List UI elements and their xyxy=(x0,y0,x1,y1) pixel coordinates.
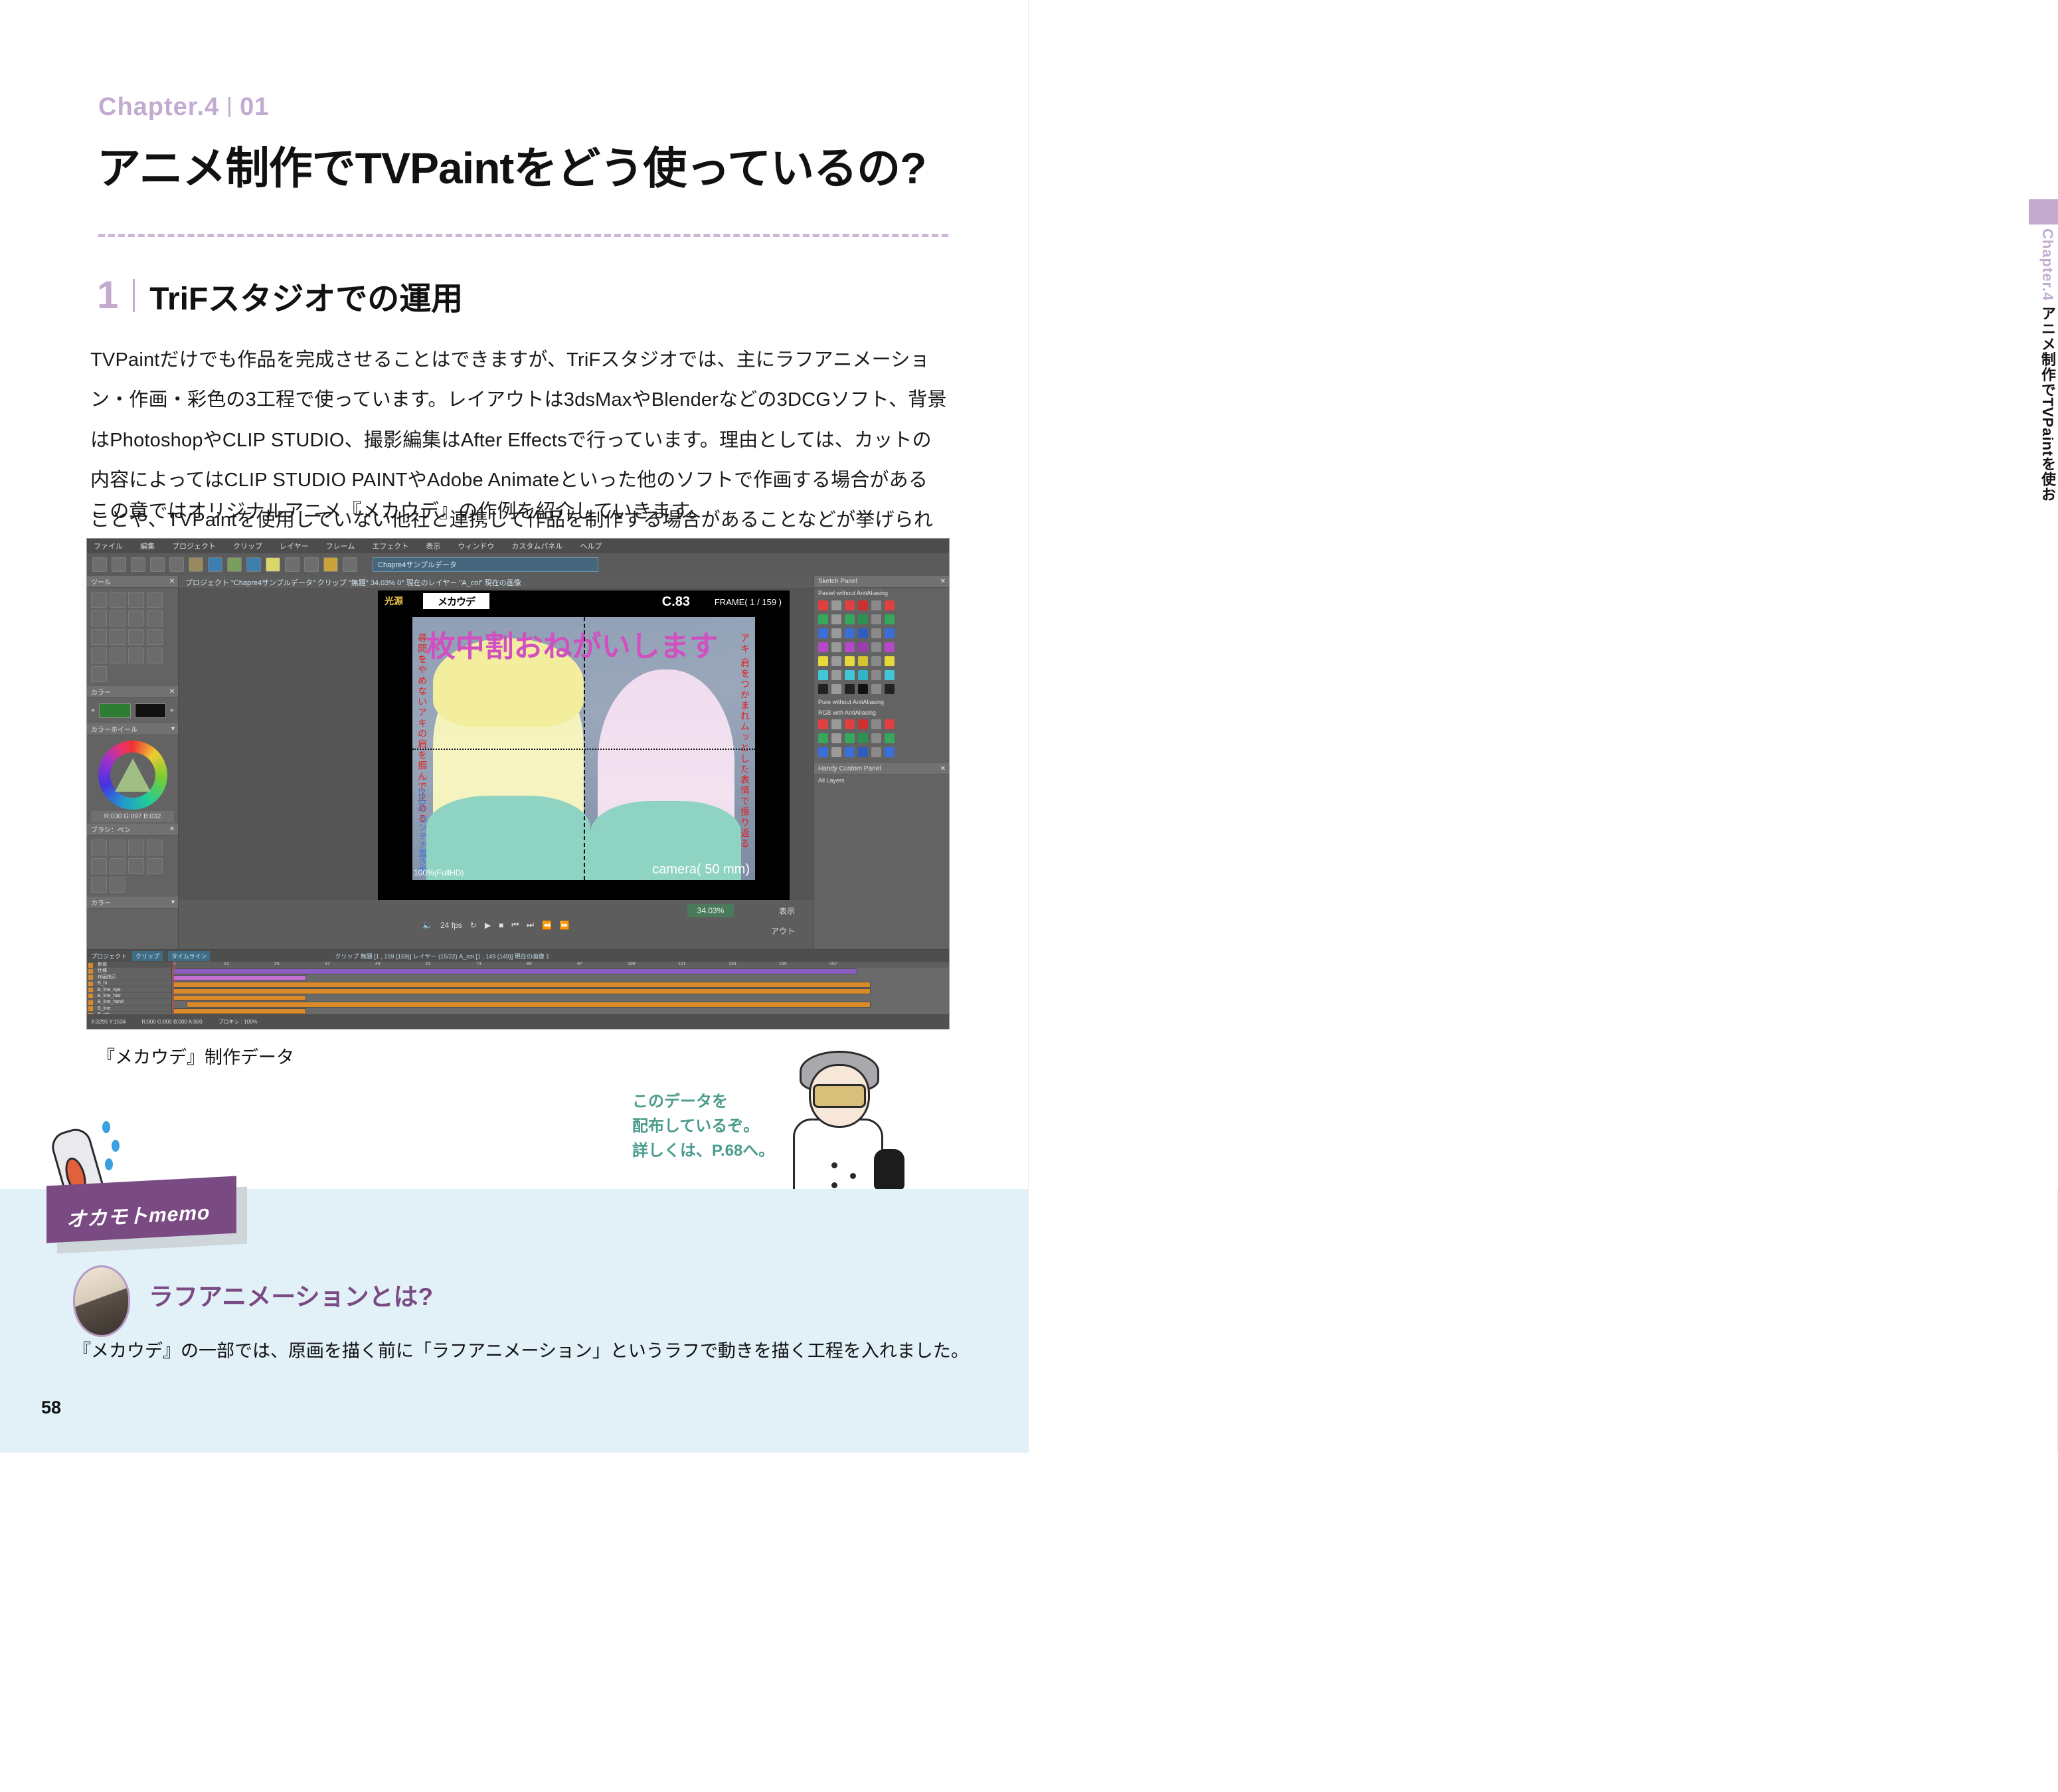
brush-swatch-magenta-icon[interactable] xyxy=(818,642,828,652)
section-1-number: 1 xyxy=(97,276,118,315)
eraser-tool-icon[interactable] xyxy=(91,648,107,664)
search-icon[interactable] xyxy=(304,557,319,572)
undo-icon[interactable] xyxy=(150,557,165,572)
menu-layer[interactable]: レイヤー xyxy=(280,541,309,551)
handy-panel-sub: All Layers xyxy=(814,775,949,786)
right-page: 2 『メカウデ』のワークフロー 『メカウデ』では、少人数体制に合う作画の手法を模… xyxy=(1029,0,2058,1453)
prev-frame-icon[interactable]: ⏪ xyxy=(542,921,552,930)
rgb-swatch-grey6-icon[interactable] xyxy=(871,747,881,757)
screenshot-caption: 『メカウデ』制作データ xyxy=(97,1043,294,1069)
text-tool-icon[interactable] xyxy=(91,877,107,893)
tab-timeline[interactable]: タイムライン xyxy=(168,951,210,961)
brush-swatch-grey13-icon[interactable] xyxy=(831,684,841,694)
brush-swatch-magenta4-icon[interactable] xyxy=(885,642,895,652)
kicker-divider xyxy=(228,97,230,117)
layer-row[interactable]: B_line xyxy=(87,1006,171,1012)
brush-swatch-green3-icon[interactable] xyxy=(858,614,868,624)
rgb-swatch-red3-icon[interactable] xyxy=(858,719,868,729)
layer-row[interactable]: 仕様 xyxy=(87,968,171,974)
rgb-swatch-grey2-icon[interactable] xyxy=(871,719,881,729)
color-triangle[interactable] xyxy=(115,759,151,792)
light-source-label: 光源 xyxy=(385,594,403,608)
canvas-stage[interactable]: 光源 メカウデ C.83 FRAME( 1 / 159 ) 枚中割おねがいします… xyxy=(378,590,790,900)
brush-swatch-green4-icon[interactable] xyxy=(885,614,895,624)
project-name-field[interactable]: Chapre4サンプルデータ xyxy=(373,557,598,572)
sketch-row[interactable] xyxy=(814,731,949,745)
color-panel-title: カラー xyxy=(91,687,111,697)
transport-controls[interactable]: 🔈 24 fps ↻ ▶ ■ ⏮ ⏭ ⏪ ⏩ xyxy=(422,920,570,930)
sweat-drop-icon xyxy=(112,1140,120,1152)
brush-panel-close-icon[interactable]: ✕ xyxy=(169,826,175,833)
ruler-tick: 25 xyxy=(274,962,280,966)
sketch-panel-close-icon[interactable]: ✕ xyxy=(940,578,946,585)
tvpaint-timeline[interactable]: プロジェクト クリップ タイムライン クリップ 無題 [1 , 159 (159… xyxy=(87,949,949,1029)
rgb-swatch-red2-icon[interactable] xyxy=(845,719,855,729)
first-frame-icon[interactable]: ⏮ xyxy=(511,920,519,930)
sketch-row[interactable] xyxy=(814,612,949,626)
ruler-tick: 37 xyxy=(325,962,330,966)
menu-edit[interactable]: 編集 xyxy=(140,541,155,551)
brush-panel-title: ブラシ：ペン xyxy=(91,824,131,834)
redo-icon[interactable] xyxy=(169,557,184,572)
timeline-ruler[interactable]: 1 13 25 37 49 61 73 85 97 109 121 133 14… xyxy=(172,962,949,968)
background-color-swatch[interactable] xyxy=(135,703,166,718)
timeline-playhead[interactable] xyxy=(173,962,174,1014)
tvpaint-menubar[interactable]: ファイル 編集 プロジェクト クリップ レイヤー フレーム エフェクト 表示 ウ… xyxy=(87,539,949,553)
ruler-tick: 109 xyxy=(628,962,636,966)
brush-swatch-cyan4-icon[interactable] xyxy=(885,670,895,680)
brush-swatch-blue2-icon[interactable] xyxy=(845,628,855,638)
layer-row[interactable]: B_line_eye xyxy=(87,987,171,993)
ruler-tick: 73 xyxy=(476,962,481,966)
layer-row[interactable]: B_line_hair xyxy=(87,993,171,999)
chapter-number: 01 xyxy=(240,93,269,121)
menu-view[interactable]: 表示 xyxy=(426,541,440,551)
layer-name-column[interactable]: 新規 仕様 作画指示 B_hi B_line_eye B_line_hair B… xyxy=(87,962,172,1014)
tools-panel-header: ツール ✕ xyxy=(87,576,178,588)
layer-header-new[interactable]: 新規 xyxy=(87,962,171,968)
sketch-row[interactable] xyxy=(814,626,949,640)
brush-icon[interactable] xyxy=(227,557,242,572)
marker-brush-icon[interactable] xyxy=(110,840,126,855)
brush-color-row: カラー ▾ xyxy=(87,897,178,909)
color-panel-header: カラー ✕ xyxy=(87,686,178,698)
line-tool-icon[interactable] xyxy=(110,592,126,608)
side-tab-label: アニメ制作でTVPaintを使お xyxy=(2039,306,2056,502)
handy-panel-title: Handy Custom Panel xyxy=(818,765,881,772)
scissors-icon[interactable] xyxy=(110,858,126,874)
brush-swatch-grey4-icon[interactable] xyxy=(871,614,881,624)
tvpaint-toolbar[interactable]: Chapre4サンプルデータ xyxy=(87,553,949,576)
frame-counter: FRAME( 1 / 159 ) xyxy=(715,597,782,607)
timeline-body[interactable]: 新規 仕様 作画指示 B_hi B_line_eye B_line_hair B… xyxy=(87,962,949,1014)
brush-swatch-black-icon[interactable] xyxy=(818,684,828,694)
canvas-info-bar: プロジェクト "Chapre4サンプルデータ" クリップ "無題" 34.03%… xyxy=(179,576,814,589)
rgb-swatch-grey3-icon[interactable] xyxy=(831,733,841,743)
memo-question: ラフアニメーションとは? xyxy=(149,1277,433,1312)
rgb-swatch-blue4-icon[interactable] xyxy=(885,747,895,757)
rgb-readout: R:030 G:097 B:032 xyxy=(91,811,174,822)
side-tab-chapter: Chapter.4 xyxy=(2039,228,2056,301)
foreground-color-swatch[interactable] xyxy=(99,703,130,718)
rgb-swatch-green3-icon[interactable] xyxy=(858,733,868,743)
pen-brush-icon[interactable] xyxy=(91,840,107,855)
layers-icon[interactable] xyxy=(246,557,261,572)
okamoto-speech-line-1: このデータを xyxy=(632,1089,774,1114)
rgb-swatch-red4-icon[interactable] xyxy=(885,719,895,729)
brush-swatch-yellow2-icon[interactable] xyxy=(845,656,855,666)
sound-toggle-icon[interactable]: 🔈 xyxy=(422,921,432,930)
brush-swatch-red4-icon[interactable] xyxy=(885,600,895,610)
sketch-row[interactable] xyxy=(814,668,949,682)
zoom-level-field[interactable]: 34.03% xyxy=(687,904,734,917)
save-project-icon[interactable] xyxy=(131,557,145,572)
brush-swatch-red-icon[interactable] xyxy=(818,600,828,610)
rgb-swatch-red-icon[interactable] xyxy=(818,719,828,729)
warp-tool-icon[interactable] xyxy=(147,648,163,664)
sketch-panel-header: Sketch Panel ✕ xyxy=(814,576,949,588)
chapter-kicker: Chapter.401 xyxy=(98,93,269,122)
ellipse-tool-icon[interactable] xyxy=(147,592,163,608)
character-akira-body xyxy=(426,796,591,880)
timeline-status-bar: X:3295 Y:1534 R:000 G:000 B:000 A:000 プロ… xyxy=(87,1014,949,1029)
brush-swatch-green2-icon[interactable] xyxy=(845,614,855,624)
new-project-icon[interactable] xyxy=(92,557,107,572)
freehand-tool-icon[interactable] xyxy=(91,592,107,608)
display-mode-button[interactable]: 表示 xyxy=(779,905,795,917)
layer-row[interactable]: B_line_hand xyxy=(87,999,171,1005)
memo-answer: 『メカウデ』の一部では、原画を描く前に「ラフアニメーション」というラフで動きを描… xyxy=(73,1336,969,1362)
tvpaint-canvas-area: プロジェクト "Chapre4サンプルデータ" クリップ "無題" 34.03%… xyxy=(179,576,814,949)
okamoto-speech-line-3: 詳しくは、P.68へ。 xyxy=(632,1138,774,1163)
okamoto-speech-line-2: 配布しているぞ。 xyxy=(632,1114,774,1138)
sketch-group-2-label: Pure without AntiAliasing xyxy=(814,696,949,708)
proxy-level: プロキシ : 100% xyxy=(218,1018,258,1026)
okamoto-glove xyxy=(874,1149,904,1190)
tab-clip[interactable]: クリップ xyxy=(132,951,163,961)
brush-swatch-grey9-icon[interactable] xyxy=(831,656,841,666)
resolution-label: 100%(FullHD) xyxy=(414,868,464,877)
track-bar-instructions[interactable] xyxy=(173,975,306,981)
fps-field[interactable]: 24 fps xyxy=(440,921,462,930)
transform-tool-icon[interactable] xyxy=(128,629,144,645)
next-frame-icon[interactable]: ⏩ xyxy=(560,921,570,930)
rgb-swatch-green2-icon[interactable] xyxy=(845,733,855,743)
mesh-tool-icon[interactable] xyxy=(91,666,107,682)
brush-swatch-grey3-icon[interactable] xyxy=(831,614,841,624)
cut-number: C.83 xyxy=(662,594,690,610)
menu-custom[interactable]: カスタムパネル xyxy=(511,541,562,551)
ruler-tick: 133 xyxy=(729,962,736,966)
page-title: アニメ制作でTVPaintをどう使っているの? xyxy=(97,133,926,197)
select-tool-icon[interactable] xyxy=(128,610,144,626)
brush-swatch-black3-icon[interactable] xyxy=(858,684,868,694)
brush-swatch-cyan2-icon[interactable] xyxy=(845,670,855,680)
coat-button-icon xyxy=(850,1173,856,1179)
brush-swatch-cyan-icon[interactable] xyxy=(818,670,828,680)
brush-swatch-grey6-icon[interactable] xyxy=(871,628,881,638)
side-tab-cap xyxy=(2029,199,2058,224)
camera-label: camera( 50 mm) xyxy=(652,862,750,877)
cursor-color: R:000 G:000 B:000 A:000 xyxy=(141,1019,202,1025)
brush-swatch-green-icon[interactable] xyxy=(818,614,828,624)
chapter-side-tab: Chapter.4 アニメ制作でTVPaintを使お xyxy=(2029,199,2058,465)
brush-swatch-black4-icon[interactable] xyxy=(885,684,895,694)
ruler-tick: 85 xyxy=(527,962,532,966)
sketch-row[interactable] xyxy=(814,745,949,759)
okamoto-mask xyxy=(813,1084,866,1108)
stop-icon[interactable]: ■ xyxy=(499,921,503,930)
memo-avatar xyxy=(73,1265,130,1337)
eyedropper-a-icon[interactable]: ⌖ xyxy=(91,707,95,715)
playback-bar[interactable]: 34.03% 表示 🔈 24 fps ↻ ▶ ■ ⏮ ⏭ ⏪ ⏩ アウト xyxy=(179,900,814,949)
ruler-tick: 61 xyxy=(426,962,431,966)
rgb-swatch-green-icon[interactable] xyxy=(818,733,828,743)
track-bar-spec[interactable] xyxy=(173,968,857,974)
brush-color-label: カラー xyxy=(91,897,111,907)
ruler-tick: 157 xyxy=(829,962,837,966)
rgb-swatch-grey5-icon[interactable] xyxy=(831,747,841,757)
layer-row[interactable]: B_hi xyxy=(87,980,171,986)
brush-swatch-yellow-icon[interactable] xyxy=(818,656,828,666)
crop-tool-icon[interactable] xyxy=(110,629,126,645)
track-bar-b-hi[interactable] xyxy=(173,982,871,988)
brush-grid[interactable] xyxy=(87,836,178,897)
rgb-swatch-green4-icon[interactable] xyxy=(885,733,895,743)
brush-swatch-grey5-icon[interactable] xyxy=(831,628,841,638)
tools-panel-title: ツール xyxy=(91,577,111,586)
timeline-tabs[interactable]: プロジェクト クリップ タイムライン クリップ 無題 [1 , 159 (159… xyxy=(87,950,949,962)
coat-button-icon xyxy=(831,1162,837,1168)
ruler-tick: 13 xyxy=(224,962,229,966)
open-project-icon[interactable] xyxy=(112,557,126,572)
fill-tool-icon[interactable] xyxy=(128,648,144,664)
brush-panel-header: ブラシ：ペン ✕ xyxy=(87,824,178,836)
ink-brush-icon[interactable] xyxy=(91,858,107,874)
sketch-panel-title: Sketch Panel xyxy=(818,578,857,585)
side-tab-text: Chapter.4 アニメ制作でTVPaintを使お xyxy=(2039,228,2055,502)
brush-swatch-grey12-icon[interactable] xyxy=(871,670,881,680)
color-wheel-panel-title: カラーホイール xyxy=(91,724,137,734)
blur-icon[interactable] xyxy=(147,858,163,874)
brush-swatch-magenta2-icon[interactable] xyxy=(845,642,855,652)
mecha-ude-logo: メカウデ xyxy=(423,593,489,609)
brush-swatch-blue4-icon[interactable] xyxy=(885,628,895,638)
ruler-tick: 49 xyxy=(375,962,381,966)
menu-effect[interactable]: エフェクト xyxy=(372,541,408,551)
brush-swatch-red2-icon[interactable] xyxy=(845,600,855,610)
sketch-row[interactable] xyxy=(814,654,949,668)
out-point-label: アウト xyxy=(771,925,795,937)
rgb-swatch-blue3-icon[interactable] xyxy=(858,747,868,757)
magic-wand-icon[interactable] xyxy=(91,629,107,645)
eyedropper-b-icon[interactable]: ⌖ xyxy=(170,707,174,715)
tvpaint-screenshot: ファイル 編集 プロジェクト クリップ レイヤー フレーム エフェクト 表示 ウ… xyxy=(86,538,950,1030)
toolbox-icon[interactable] xyxy=(189,557,203,572)
ruler-tick: 97 xyxy=(577,962,582,966)
layer-row[interactable]: 作画指示 xyxy=(87,974,171,980)
chapter-kicker-label: Chapter.4 xyxy=(98,93,219,121)
color-wheel-icon[interactable] xyxy=(208,557,222,572)
sketch-row[interactable] xyxy=(814,640,949,654)
last-frame-icon[interactable]: ⏭ xyxy=(527,920,534,930)
menu-window[interactable]: ウィンドウ xyxy=(458,541,494,551)
brush-swatch-grey14-icon[interactable] xyxy=(871,684,881,694)
brush-swatch-grey2-icon[interactable] xyxy=(871,600,881,610)
sketch-group-3-label: RGB with AntiAliasing xyxy=(814,708,949,717)
stamp-tool-icon[interactable] xyxy=(110,610,126,626)
menu-help[interactable]: ヘルプ xyxy=(580,541,602,551)
title-divider xyxy=(98,234,948,237)
sweat-drop-icon xyxy=(105,1158,113,1170)
color-wheel[interactable] xyxy=(98,741,167,810)
brush-swatch-red3-icon[interactable] xyxy=(858,600,868,610)
menu-clip[interactable]: クリップ xyxy=(233,541,262,551)
track-bar-b-line-hand[interactable] xyxy=(187,1002,871,1008)
loop-icon[interactable]: ↻ xyxy=(470,921,477,930)
brush-swatch-grey11-icon[interactable] xyxy=(831,670,841,680)
color-wheel-panel-header: カラーホイール ▾ xyxy=(87,723,178,735)
tab-project[interactable]: プロジェクト xyxy=(91,952,127,960)
track-bar-b-line-eye[interactable] xyxy=(173,988,871,994)
brush-swatch-yellow4-icon[interactable] xyxy=(885,656,895,666)
okamoto-speech-bubble: このデータを 配布しているぞ。 詳しくは、P.68へ。 xyxy=(632,1089,774,1164)
rgb-swatch-grey-icon[interactable] xyxy=(831,719,841,729)
curve-icon[interactable] xyxy=(343,557,357,572)
tvpaint-right-dock: Sketch Panel ✕ Pastel without AntiAliasi… xyxy=(814,576,949,949)
curve-tool-icon[interactable] xyxy=(91,610,107,626)
brush-swatch-magenta3-icon[interactable] xyxy=(858,642,868,652)
section-1-divider xyxy=(133,279,135,312)
handy-panel-close-icon[interactable]: ✕ xyxy=(940,765,946,772)
section-1-title: TriFスタジオでの運用 xyxy=(149,272,463,319)
sketch-row[interactable] xyxy=(814,682,949,696)
brush-swatch-yellow3-icon[interactable] xyxy=(858,656,868,666)
brush-swatch-grey8-icon[interactable] xyxy=(871,642,881,652)
brush-swatch-blue3-icon[interactable] xyxy=(858,628,868,638)
rgb-swatch-blue-icon[interactable] xyxy=(818,747,828,757)
menu-project[interactable]: プロジェクト xyxy=(172,541,216,551)
menu-frame[interactable]: フレーム xyxy=(326,541,355,551)
exposure-sheet-icon[interactable] xyxy=(285,557,300,572)
timeline-tracks[interactable]: 1 13 25 37 49 61 73 85 97 109 121 133 14… xyxy=(172,962,949,1014)
thin-pen-icon[interactable] xyxy=(128,858,144,874)
tvpaint-left-dock: ツール ✕ xyxy=(87,576,179,949)
pencil-brush-icon[interactable] xyxy=(147,840,163,855)
brush-swatch-grey-icon[interactable] xyxy=(831,600,841,610)
tool-grid[interactable] xyxy=(87,588,178,686)
rectangle-tool-icon[interactable] xyxy=(128,592,144,608)
color-swatches[interactable]: ⌖ ⌖ xyxy=(87,698,178,723)
rgb-swatch-grey4-icon[interactable] xyxy=(871,733,881,743)
sketch-row[interactable] xyxy=(814,598,949,612)
camera-tool-icon[interactable] xyxy=(147,629,163,645)
ruler-tick: 145 xyxy=(779,962,787,966)
airbrush-icon[interactable] xyxy=(128,840,144,855)
cursor-position: X:3295 Y:1534 xyxy=(91,1019,126,1025)
menu-file[interactable]: ファイル xyxy=(94,541,123,551)
rgb-swatch-blue2-icon[interactable] xyxy=(845,747,855,757)
color-wheel-collapse-icon[interactable]: ▾ xyxy=(171,725,175,733)
panel-close-icon[interactable]: ✕ xyxy=(169,578,175,585)
sketch-row[interactable] xyxy=(814,717,949,731)
brush-swatch-black2-icon[interactable] xyxy=(845,684,855,694)
brush-swatch-grey7-icon[interactable] xyxy=(831,642,841,652)
left-page: Chapter.401 アニメ制作でTVPaintをどう使っているの? 1 Tr… xyxy=(0,0,1029,1453)
track-bar-b-line-hair[interactable] xyxy=(173,995,306,1001)
blue-note-left: 2DBG コンテナ置き場 xyxy=(416,788,428,875)
ruler-tick: 121 xyxy=(678,962,686,966)
light-table-icon[interactable] xyxy=(266,557,280,572)
play-icon[interactable]: ▶ xyxy=(485,921,491,930)
sketch-group-1-label: Pastel without AntiAliasing xyxy=(814,588,949,598)
brush-swatch-cyan3-icon[interactable] xyxy=(858,670,868,680)
brush-swatch-blue-icon[interactable] xyxy=(818,628,828,638)
shape-select-icon[interactable] xyxy=(147,610,163,626)
brush-swatch-grey10-icon[interactable] xyxy=(871,656,881,666)
pointer-icon[interactable] xyxy=(110,877,126,893)
section-1-heading: 1 TriFスタジオでの運用 xyxy=(97,272,463,319)
coat-button-icon xyxy=(831,1182,837,1188)
mascot-icon[interactable] xyxy=(323,557,338,572)
color-wheel-inner[interactable] xyxy=(110,753,155,798)
handy-panel-header: Handy Custom Panel ✕ xyxy=(814,763,949,775)
stage-artwork: 枚中割おねがいします 尋問をやめないアキの肩を掴んで止める アキ 肩をつかまれム… xyxy=(412,617,755,880)
brush-color-chevron-icon[interactable]: ▾ xyxy=(171,899,175,906)
track-bar-b-line[interactable] xyxy=(173,1008,306,1014)
section-1-paragraph-2: この章ではオリジナルアニメ『メカウデ』の作例を紹介していきます。 xyxy=(90,492,947,531)
vertical-guide xyxy=(584,617,585,880)
color-panel-close-icon[interactable]: ✕ xyxy=(169,688,175,695)
stage-overlay-top: 光源 メカウデ C.83 FRAME( 1 / 159 ) xyxy=(378,590,790,617)
smudge-tool-icon[interactable] xyxy=(110,648,126,664)
clip-info-text: クリップ 無題 [1 , 159 (159)] レイヤー (15/22) A_c… xyxy=(335,952,549,960)
page-number-left: 58 xyxy=(41,1397,61,1418)
sweat-drop-icon xyxy=(102,1121,110,1133)
